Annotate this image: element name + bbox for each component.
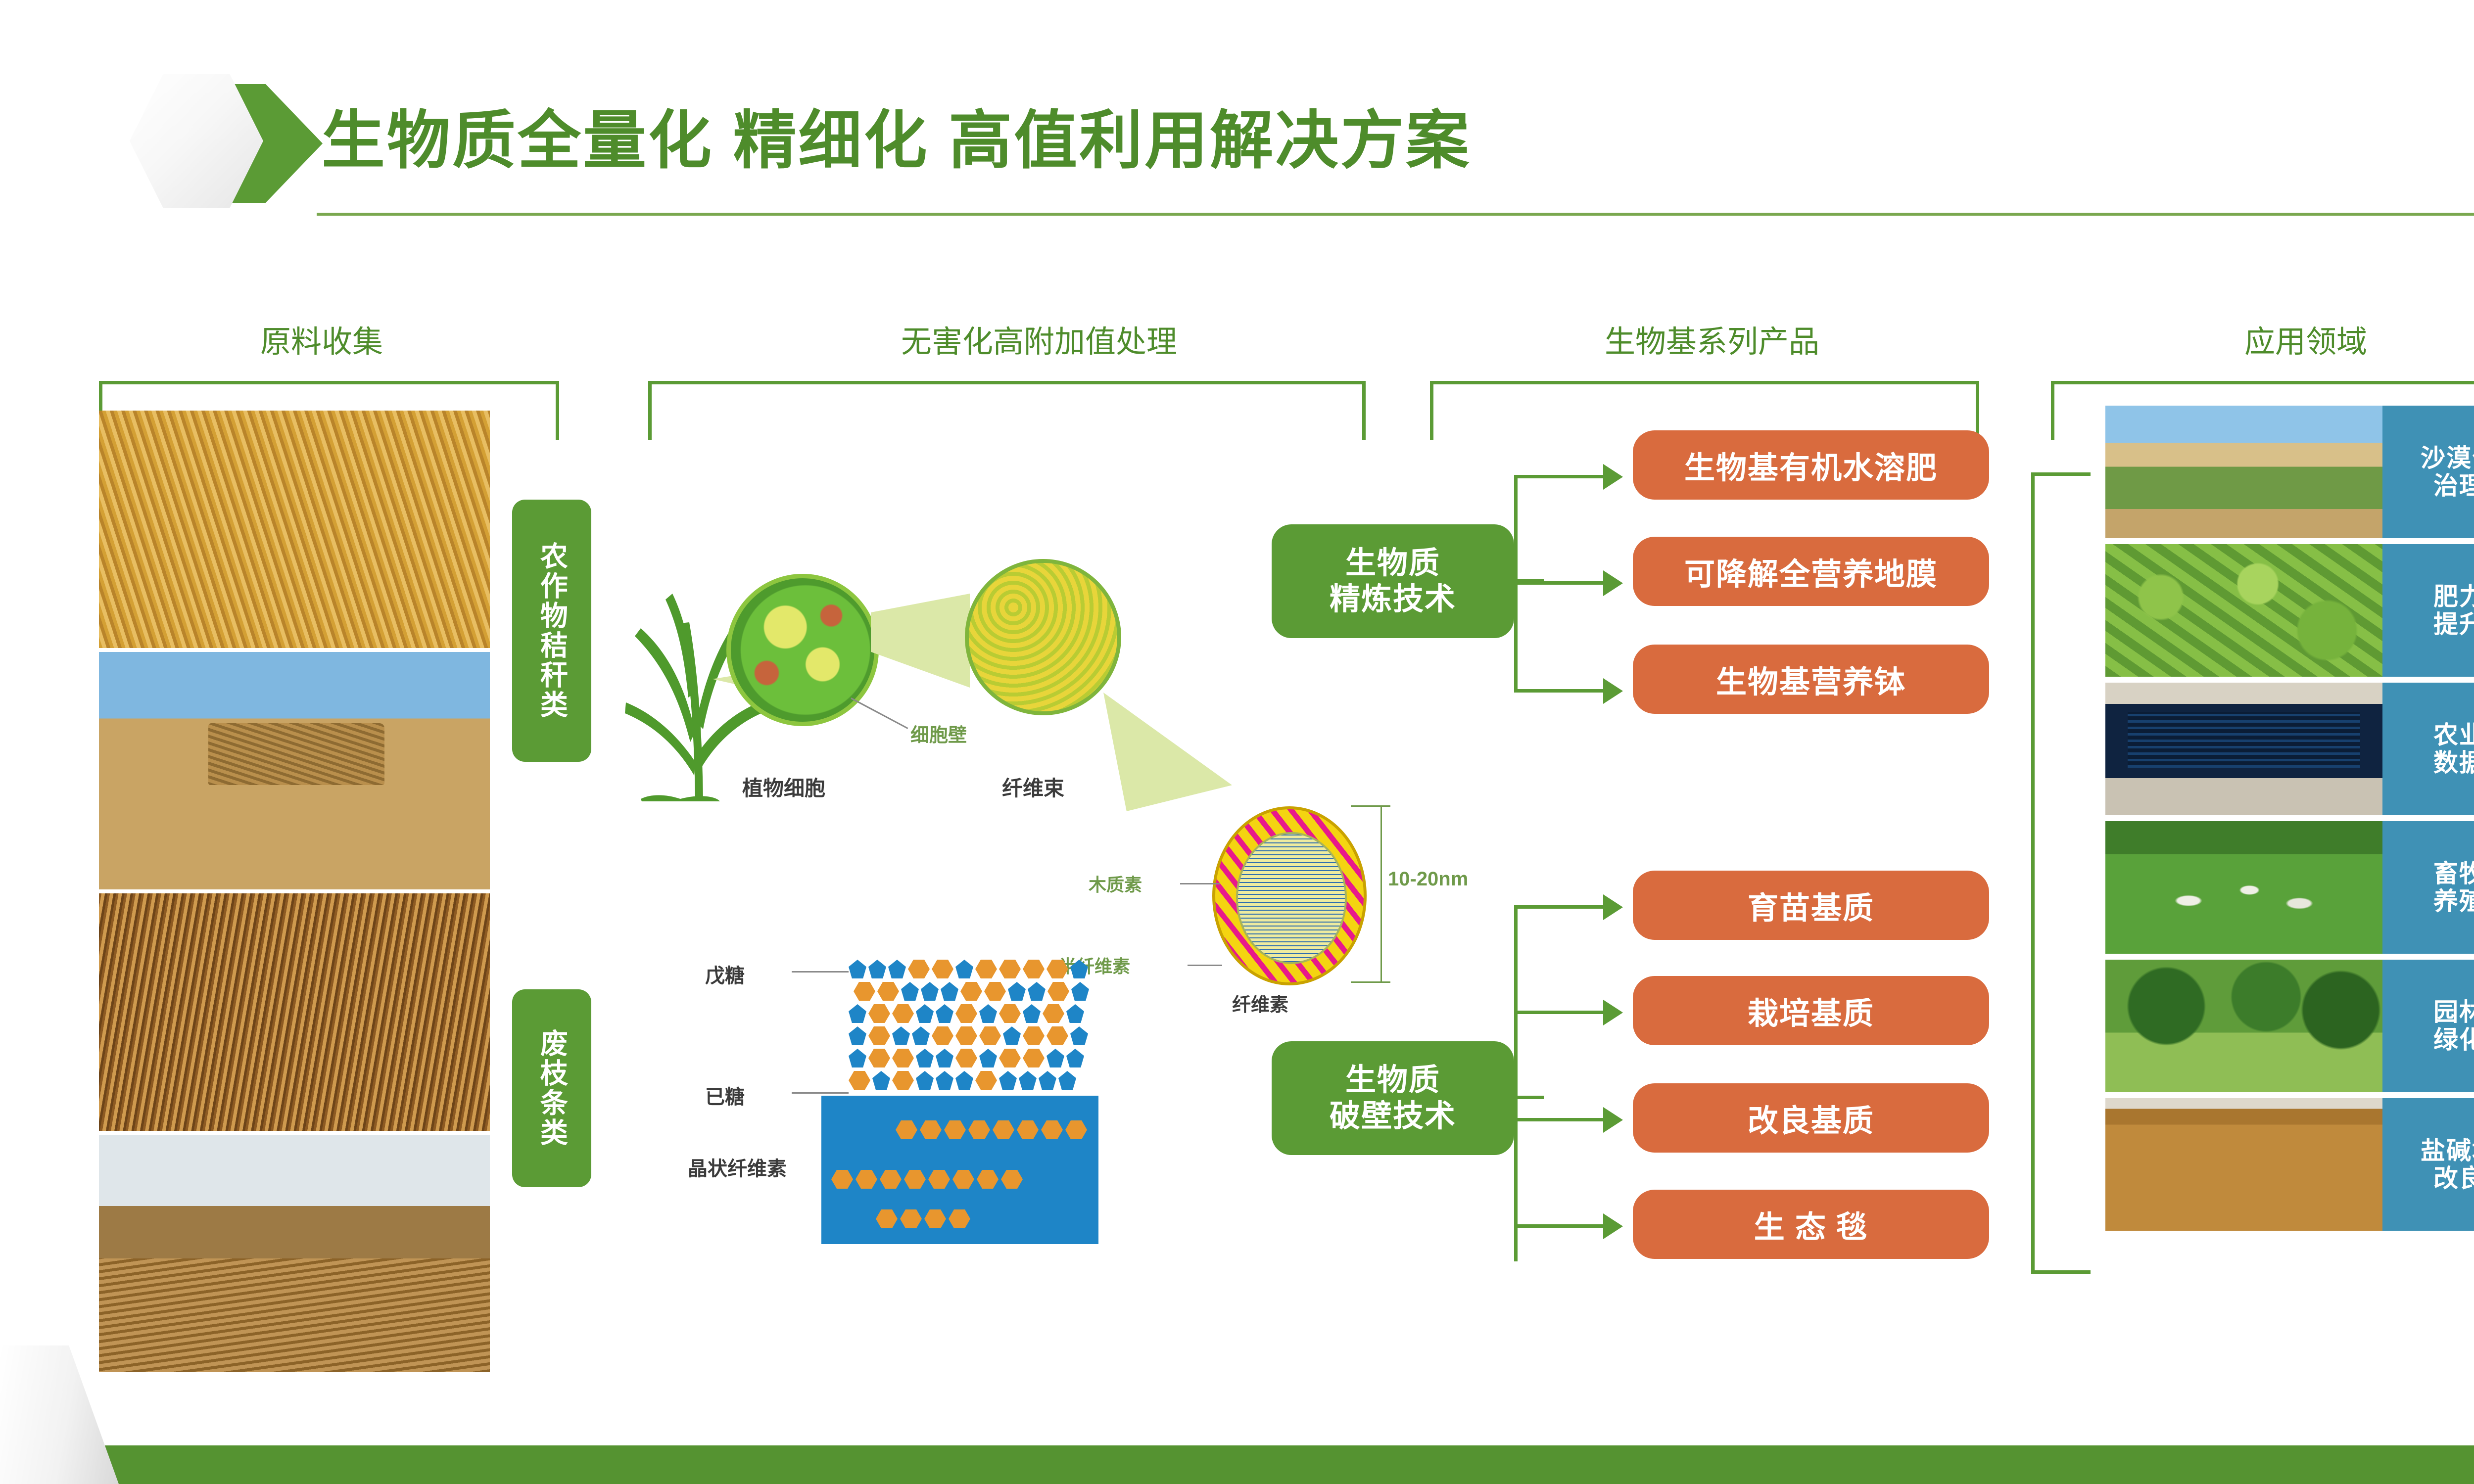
- app-label-line1: 肥力: [2433, 583, 2474, 610]
- arrow-to-product-2: [1603, 570, 1623, 596]
- bracket-applications: [2031, 472, 2091, 1274]
- tech-box-cellwall[interactable]: 生物质 破壁技术: [1272, 1041, 1514, 1155]
- tech-refining-line1: 生物质: [1345, 545, 1440, 581]
- tech-refining-line2: 精炼技术: [1330, 581, 1456, 617]
- connector-cellwall-branch-3: [1514, 1118, 1603, 1121]
- page-title: 生物质全量化 精细化 高值利用解决方案: [322, 89, 1471, 181]
- photo-desert-greening: [2105, 406, 2382, 538]
- footer-bar: [99, 1445, 2474, 1484]
- label-fiber-bundle: 纤维束: [1002, 772, 1064, 802]
- connector-refining-branch-2: [1514, 581, 1603, 585]
- crystalline-cellulose-panel: [821, 1096, 1098, 1244]
- app-label-line2: 改良: [2433, 1164, 2474, 1192]
- label-cell-wall: 细胞壁: [910, 720, 967, 747]
- connector-cellwall-vertical: [1514, 905, 1518, 1261]
- app-tag-desertification-control[interactable]: 沙漠化 治理: [2382, 406, 2474, 538]
- product-box-5[interactable]: 改良基质: [1633, 1083, 1989, 1153]
- connector-refining-branch-1: [1514, 475, 1603, 478]
- product-box-4[interactable]: 栽培基质: [1633, 976, 1989, 1045]
- app-label-line2: 绿化: [2433, 1026, 2474, 1054]
- section-title-raw-collection: 原料收集: [260, 317, 383, 361]
- arrow-to-product-4: [1603, 894, 1623, 920]
- tech-cellwall-line2: 破壁技术: [1330, 1098, 1456, 1134]
- connector-cellwall-branch-1: [1514, 905, 1603, 909]
- app-label-line1: 农业: [2433, 721, 2474, 749]
- sugar-chain-diagram: [849, 960, 1089, 1093]
- label-cellulose: 纤维素: [1232, 989, 1288, 1017]
- app-label-line2: 提升: [2433, 610, 2474, 638]
- photo-cabbage-field: [2105, 544, 2382, 677]
- arrow-to-product-7: [1603, 1213, 1623, 1239]
- connector-refining-branch-3: [1514, 689, 1603, 693]
- product-box-6[interactable]: 生 态 毯: [1633, 1190, 1989, 1259]
- bracket-harmless-processing: [648, 381, 1366, 440]
- tech-box-refining[interactable]: 生物质 精炼技术: [1272, 524, 1514, 638]
- arrow-to-product-3: [1603, 678, 1623, 704]
- app-label-line2: 养殖: [2433, 887, 2474, 915]
- photo-orchard-pruning: [99, 1135, 490, 1372]
- product-box-1[interactable]: 可降解全营养地膜: [1633, 537, 1989, 606]
- connector-cellwall-branch-2: [1514, 1011, 1603, 1014]
- section-title-biobased-products: 生物基系列产品: [1605, 317, 1819, 361]
- leader-lignin: [1180, 883, 1220, 884]
- photo-straw-bale-field: [99, 652, 490, 889]
- label-lignin: 木质素: [1089, 871, 1142, 896]
- app-tag-livestock-breeding[interactable]: 畜牧 养殖: [2382, 821, 2474, 954]
- sugar-row: [854, 982, 1089, 1001]
- label-plant-cell: 植物细胞: [742, 772, 825, 802]
- sugar-row: [849, 1071, 1089, 1090]
- app-label-line1: 畜牧: [2433, 860, 2474, 887]
- cellulose-core: [1236, 832, 1347, 964]
- label-scale-10-20nm: 10-20nm: [1388, 868, 1468, 890]
- label-crystalline-cellulose: 晶状纤维素: [688, 1153, 787, 1181]
- label-hexose: 已糖: [705, 1081, 745, 1110]
- app-label-line1: 沙漠化: [2421, 444, 2474, 472]
- photo-dry-branches: [99, 893, 490, 1131]
- arrow-to-product-1: [1603, 464, 1623, 490]
- connector-cellwall-stub: [1514, 1096, 1544, 1099]
- fiber-bundle-illustration: [965, 559, 1121, 715]
- sugar-row: [849, 1004, 1089, 1023]
- beam-cell-to-bundle: [871, 594, 970, 688]
- tech-cellwall-line1: 生物质: [1345, 1062, 1440, 1098]
- photo-sheep-grazing: [2105, 821, 2382, 954]
- photo-saline-soil: [2105, 1098, 2382, 1231]
- title-divider: [317, 213, 2474, 216]
- app-label-line1: 盐碱地: [2421, 1137, 2474, 1164]
- sugar-row: [849, 1049, 1089, 1067]
- leader-cell-wall: [851, 697, 908, 729]
- label-crop-straw: 农作物秸秆类: [512, 500, 591, 762]
- leader-pentose: [792, 971, 849, 973]
- app-tag-saline-alkali-improvement[interactable]: 盐碱地 改良: [2382, 1098, 2474, 1231]
- photo-corn-stalk-field: [99, 411, 490, 648]
- plant-cell-illustration: [726, 574, 879, 726]
- label-pentose: 戊糖: [705, 960, 745, 988]
- connector-cellwall-branch-4: [1514, 1224, 1603, 1228]
- header-hexagon-badge: [130, 74, 318, 213]
- scale-cap-bottom: [1351, 981, 1390, 983]
- leader-hexose: [792, 1092, 849, 1094]
- app-tag-agricultural-data[interactable]: 农业 数据: [2382, 683, 2474, 815]
- app-label-line1: 园林: [2433, 998, 2474, 1026]
- section-title-application-fields: 应用领域: [2244, 317, 2367, 361]
- app-tag-landscape-greening[interactable]: 园林 绿化: [2382, 960, 2474, 1092]
- sugar-row: [849, 960, 1089, 978]
- arrow-to-product-6: [1603, 1107, 1623, 1133]
- app-label-line2: 治理: [2433, 472, 2474, 500]
- section-title-harmless-processing: 无害化高附加值处理: [901, 317, 1177, 361]
- beam-bundle-to-fiber: [1103, 693, 1232, 811]
- scale-cap-top: [1351, 805, 1390, 807]
- cellulose-fibril-illustration: [1212, 806, 1367, 985]
- app-label-line2: 数据: [2433, 749, 2474, 777]
- arrow-to-product-5: [1603, 1000, 1623, 1025]
- photo-data-control-room: [2105, 683, 2382, 815]
- product-box-0[interactable]: 生物基有机水溶肥: [1633, 430, 1989, 500]
- scale-dimension-line: [1380, 805, 1382, 981]
- photo-park-trees: [2105, 960, 2382, 1092]
- app-tag-fertility-improvement[interactable]: 肥力 提升: [2382, 544, 2474, 677]
- leader-hemicellulose: [1188, 965, 1222, 966]
- label-waste-branch: 废枝条类: [512, 989, 591, 1187]
- product-box-2[interactable]: 生物基营养钵: [1633, 645, 1989, 714]
- sugar-row: [849, 1026, 1089, 1045]
- product-box-3[interactable]: 育苗基质: [1633, 871, 1989, 940]
